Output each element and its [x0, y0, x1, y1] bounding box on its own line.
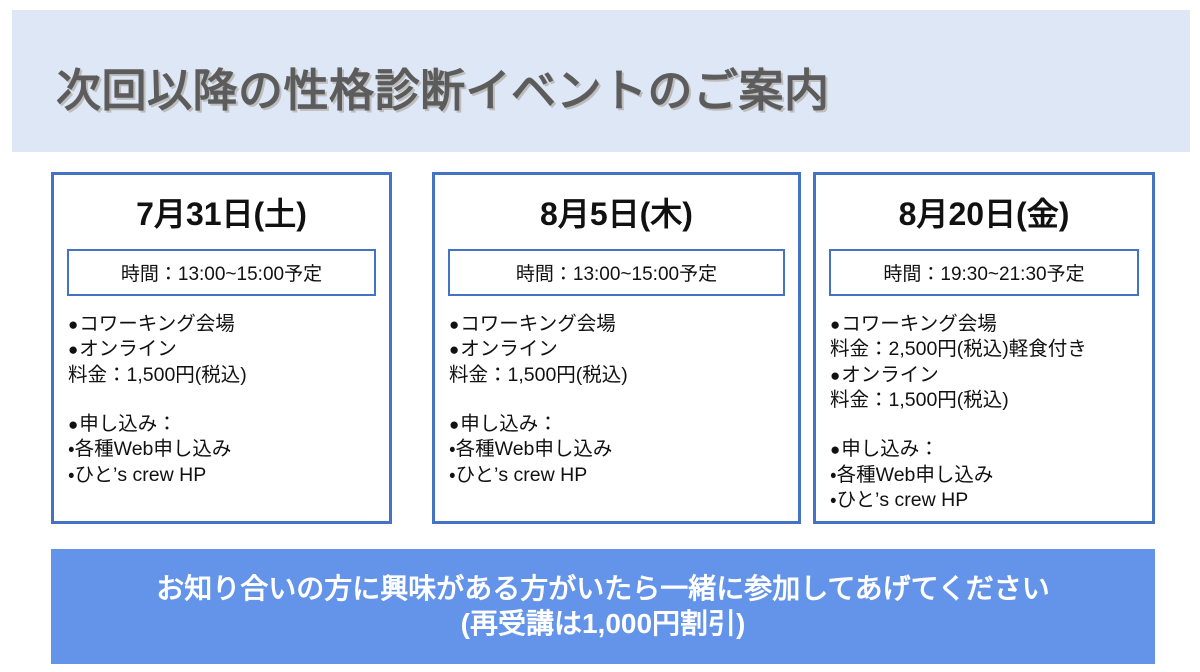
- event-date-heading: 8月5日(木): [435, 189, 798, 235]
- list-item: 料金：2,500円(税込)軽食付き: [830, 337, 1152, 362]
- spacer: [449, 388, 798, 412]
- event-details-list: コワーキング会場 オンライン 料金：1,500円(税込) 申し込み： 各種Web…: [68, 312, 389, 488]
- list-item: ひと’s crew HP: [449, 463, 798, 488]
- event-cards-row: 7月31日(土) 時間：13:00~15:00予定 コワーキング会場 オンライン…: [0, 172, 1200, 530]
- event-details-list: コワーキング会場 料金：2,500円(税込)軽食付き オンライン 料金：1,50…: [830, 312, 1152, 513]
- spacer: [68, 388, 389, 412]
- list-item: オンライン: [830, 363, 1152, 388]
- event-time-box: 時間：13:00~15:00予定: [448, 249, 785, 296]
- list-item: ひと’s crew HP: [68, 463, 389, 488]
- event-card: 8月20日(金) 時間：19:30~21:30予定 コワーキング会場 料金：2,…: [813, 172, 1155, 524]
- list-item: 各種Web申し込み: [449, 437, 798, 462]
- event-details-list: コワーキング会場 オンライン 料金：1,500円(税込) 申し込み： 各種Web…: [449, 312, 798, 488]
- event-time-text: 時間：13:00~15:00予定: [516, 259, 717, 286]
- list-item: コワーキング会場: [449, 312, 798, 337]
- list-item: 料金：1,500円(税込): [830, 388, 1152, 413]
- footer-line-primary: お知り合いの方に興味がある方がいたら一緒に参加してあげてください: [156, 572, 1049, 606]
- list-item: コワーキング会場: [830, 312, 1152, 337]
- event-time-box: 時間：13:00~15:00予定: [67, 249, 376, 296]
- event-date-heading: 8月20日(金): [816, 189, 1152, 235]
- list-item: オンライン: [68, 337, 389, 362]
- event-card: 8月5日(木) 時間：13:00~15:00予定 コワーキング会場 オンライン …: [432, 172, 801, 524]
- list-item: 申し込み：: [68, 412, 389, 437]
- list-item: コワーキング会場: [68, 312, 389, 337]
- list-item: 各種Web申し込み: [68, 437, 389, 462]
- spacer: [830, 413, 1152, 437]
- event-time-text: 時間：13:00~15:00予定: [121, 259, 322, 286]
- event-time-text: 時間：19:30~21:30予定: [883, 259, 1084, 286]
- list-item: 各種Web申し込み: [830, 463, 1152, 488]
- event-card: 7月31日(土) 時間：13:00~15:00予定 コワーキング会場 オンライン…: [51, 172, 392, 524]
- event-date-heading: 7月31日(土): [54, 189, 389, 235]
- list-item: ひと’s crew HP: [830, 488, 1152, 513]
- list-item: オンライン: [449, 337, 798, 362]
- list-item: 申し込み：: [449, 412, 798, 437]
- list-item: 料金：1,500円(税込): [449, 363, 798, 388]
- page-title: 次回以降の性格診断イベントのご案内: [56, 54, 830, 119]
- list-item: 料金：1,500円(税込): [68, 363, 389, 388]
- header-banner: 次回以降の性格診断イベントのご案内: [12, 10, 1190, 152]
- footer-line-secondary: (再受講は1,000円割引): [461, 607, 746, 641]
- list-item: 申し込み：: [830, 437, 1152, 462]
- footer-banner: お知り合いの方に興味がある方がいたら一緒に参加してあげてください (再受講は1,…: [51, 549, 1155, 664]
- event-time-box: 時間：19:30~21:30予定: [829, 249, 1139, 296]
